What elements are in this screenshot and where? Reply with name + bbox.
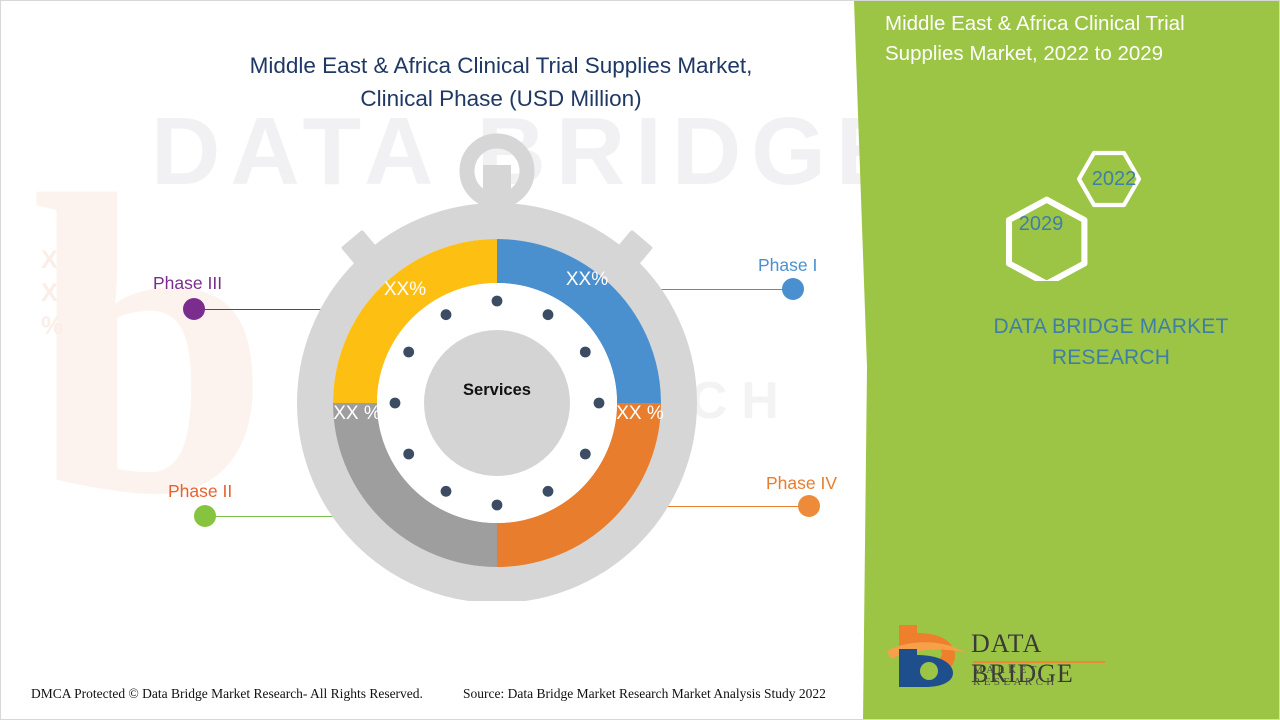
footer-source: Source: Data Bridge Market Research Mark… <box>463 686 826 702</box>
callout-label-phase-4: Phase IV <box>766 473 837 494</box>
watermark-xx-percent: XX% <box>41 244 63 343</box>
logo-divider <box>973 661 1105 663</box>
chart-title-line1: Middle East & Africa Clinical Trial Supp… <box>250 53 753 78</box>
callout-label-phase-3: Phase III <box>153 273 222 294</box>
brand-name-line2: RESEARCH <box>1052 346 1170 369</box>
logo-mark-icon <box>885 623 969 689</box>
hex-start-year-label: 2022 <box>1084 168 1144 191</box>
segment-label-phase-1: XX% <box>549 269 625 291</box>
donut-chart <box>277 121 717 601</box>
brand-name-line1: DATA BRIDGE MARKET <box>993 315 1228 338</box>
brand-name: DATA BRIDGE MARKET RESEARCH <box>961 311 1261 373</box>
callout-dot-phase-2[interactable] <box>194 505 216 527</box>
segment-label-phase-2: XX % <box>331 403 383 425</box>
callout-dot-phase-4[interactable] <box>798 495 820 517</box>
dial-center-hub <box>424 330 570 476</box>
infographic-canvas: b XX% DATA BRIDGE RESEARCH Middle East &… <box>0 0 1280 720</box>
company-logo: DATA BRIDGE MARKET RESEARCH <box>885 623 1115 689</box>
right-panel-title-line2: Supplies Market, 2022 to 2029 <box>885 42 1163 65</box>
hex-end-year-label: 2029 <box>1008 213 1074 236</box>
callout-label-phase-2: Phase II <box>168 481 232 502</box>
logo-sub-text: MARKET RESEARCH <box>973 664 1115 688</box>
callout-dot-phase-3[interactable] <box>183 298 205 320</box>
year-hexagons: 2022 2029 <box>986 141 1176 281</box>
segment-label-phase-3: XX% <box>367 279 443 301</box>
callout-dot-phase-1[interactable] <box>782 278 804 300</box>
callout-label-phase-1: Phase I <box>758 255 817 276</box>
segment-label-phase-4: XX % <box>614 403 666 425</box>
chart-title: Middle East & Africa Clinical Trial Supp… <box>131 49 871 115</box>
footer-copyright: DMCA Protected © Data Bridge Market Rese… <box>31 686 423 702</box>
right-panel-title: Middle East & Africa Clinical Trial Supp… <box>885 9 1265 69</box>
right-panel-title-line1: Middle East & Africa Clinical Trial <box>885 12 1185 35</box>
hexagon-end-year <box>1009 200 1084 281</box>
chart-title-line2: Clinical Phase (USD Million) <box>360 86 641 111</box>
donut-center-label: Services <box>407 381 587 400</box>
